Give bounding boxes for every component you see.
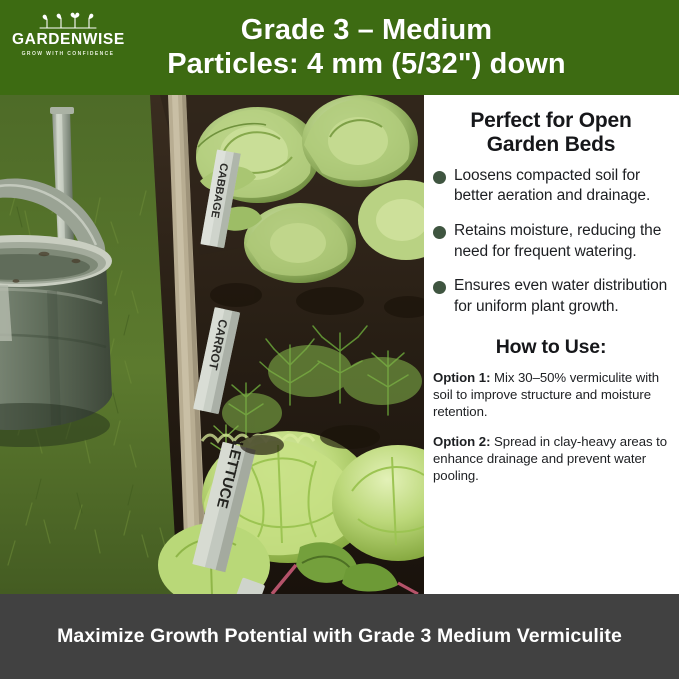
- brand-tagline: GROW WITH CONFIDENCE: [12, 51, 124, 57]
- benefit-text: Retains moisture, reducing the need for …: [454, 221, 669, 262]
- benefits-list: Loosens compacted soil for better aerati…: [433, 166, 669, 332]
- list-item: Retains moisture, reducing the need for …: [433, 221, 669, 262]
- bullet-icon: [433, 226, 446, 239]
- option-1: Option 1: Mix 30–50% vermiculite with so…: [433, 369, 669, 420]
- header-banner: GARDENWISE GROW WITH CONFIDENCE Grade 3 …: [0, 0, 679, 95]
- info-panel: Perfect for Open Garden Beds Loosens com…: [424, 95, 679, 594]
- option-2: Option 2: Spread in clay-heavy areas to …: [433, 433, 669, 484]
- panel-heading: Perfect for Open Garden Beds: [433, 109, 669, 157]
- footer-banner: Maximize Growth Potential with Grade 3 M…: [0, 594, 679, 679]
- product-infographic: GARDENWISE GROW WITH CONFIDENCE Grade 3 …: [0, 0, 679, 679]
- list-item: Loosens compacted soil for better aerati…: [433, 166, 669, 207]
- list-item: Ensures even water distribution for unif…: [433, 276, 669, 317]
- option-1-label: Option 1:: [433, 370, 490, 385]
- brand-wordmark: GARDENWISE: [12, 31, 124, 48]
- page-title: Grade 3 – Medium Particles: 4 mm (5/32")…: [107, 14, 572, 81]
- benefit-text: Loosens compacted soil for better aerati…: [454, 166, 669, 207]
- option-2-label: Option 2:: [433, 434, 490, 449]
- brand-logo: GARDENWISE GROW WITH CONFIDENCE: [12, 8, 124, 57]
- footer-text: Maximize Growth Potential with Grade 3 M…: [29, 624, 650, 649]
- seedling-sprouts-icon: [12, 8, 124, 30]
- content-area: CABBAGE CARROT LETTUCE: [0, 95, 679, 594]
- bullet-icon: [433, 171, 446, 184]
- title-line-2: Particles: 4 mm (5/32") down: [167, 48, 566, 82]
- benefit-text: Ensures even water distribution for unif…: [454, 276, 669, 317]
- bullet-icon: [433, 281, 446, 294]
- howto-heading: How to Use:: [433, 336, 669, 359]
- title-line-1: Grade 3 – Medium: [167, 14, 566, 48]
- garden-photo: CABBAGE CARROT LETTUCE: [0, 95, 424, 594]
